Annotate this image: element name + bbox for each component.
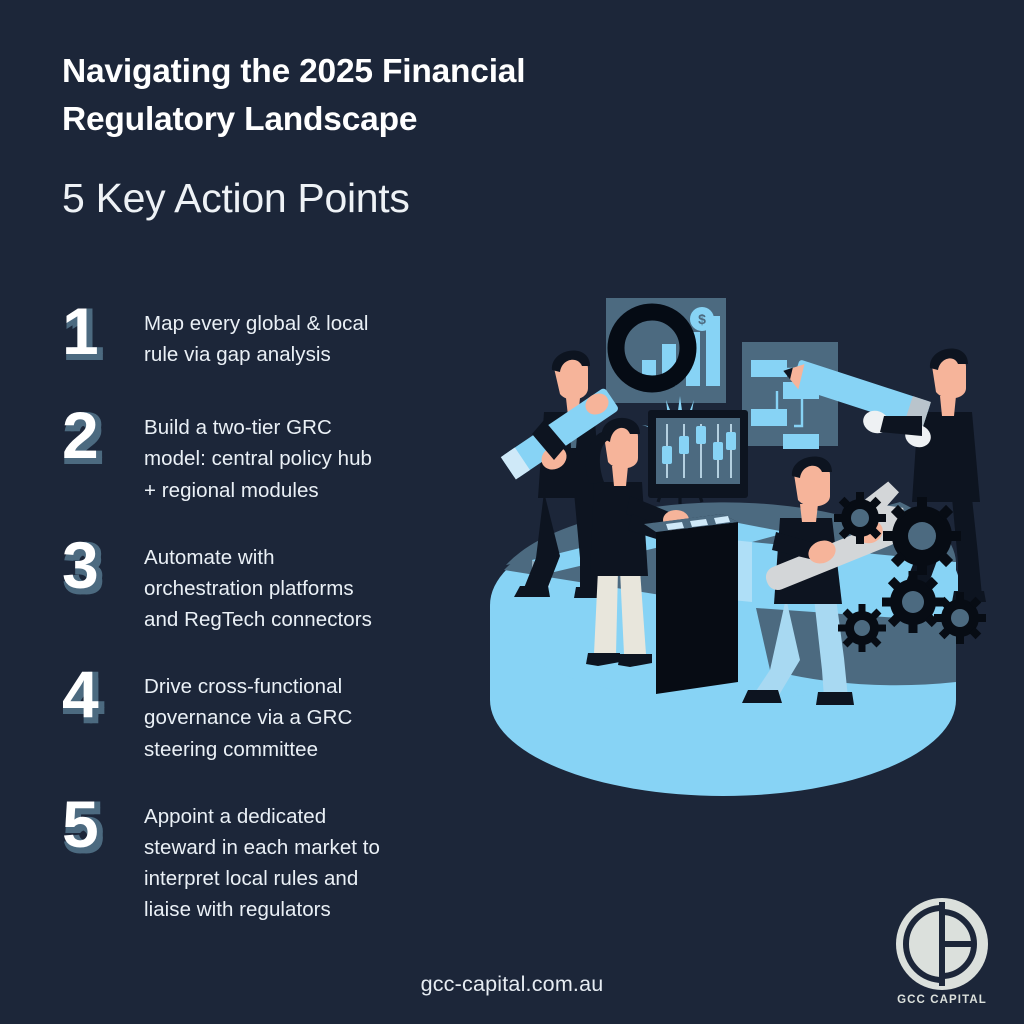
- point-text-2: Build a two-tier GRC model: central poli…: [144, 400, 476, 505]
- list-item: 3 Automate with orchestration platforms …: [56, 530, 476, 635]
- point-text-4: Drive cross-functional governance via a …: [144, 659, 476, 764]
- point-number-4: 4: [56, 659, 144, 727]
- logo-monogram-icon: [894, 896, 990, 992]
- page-title: Navigating the 2025 Financial Regulatory…: [62, 48, 682, 144]
- website-url: gcc-capital.com.au: [0, 972, 1024, 997]
- svg-text:$: $: [698, 311, 706, 327]
- dollar-coin-icon: $: [690, 307, 714, 331]
- point-number-1: 1: [56, 296, 144, 364]
- point-text-3: Automate with orchestration platforms an…: [144, 530, 476, 635]
- poster-canvas: Navigating the 2025 Financial Regulatory…: [0, 0, 1024, 1024]
- list-item: 4 Drive cross-functional governance via …: [56, 659, 476, 764]
- control-console: [644, 410, 748, 694]
- illustration: $: [470, 270, 1024, 890]
- point-number-3: 3: [56, 530, 144, 598]
- list-item: 2 Build a two-tier GRC model: central po…: [56, 400, 476, 505]
- action-points-list: 1 Map every global & local rule via gap …: [56, 296, 476, 947]
- chart-panel: $: [606, 298, 726, 403]
- logo-wordmark: GCC CAPITAL: [882, 994, 1002, 1006]
- list-item: 1 Map every global & local rule via gap …: [56, 296, 476, 370]
- header: Navigating the 2025 Financial Regulatory…: [62, 48, 682, 222]
- point-text-1: Map every global & local rule via gap an…: [144, 296, 476, 370]
- page-subtitle: 5 Key Action Points: [62, 176, 682, 221]
- point-number-2: 2: [56, 400, 144, 468]
- logo: GCC CAPITAL: [882, 896, 1002, 1006]
- point-text-5: Appoint a dedicated steward in each mark…: [144, 789, 476, 926]
- point-number-5: 5: [56, 789, 144, 857]
- list-item: 5 Appoint a dedicated steward in each ma…: [56, 789, 476, 926]
